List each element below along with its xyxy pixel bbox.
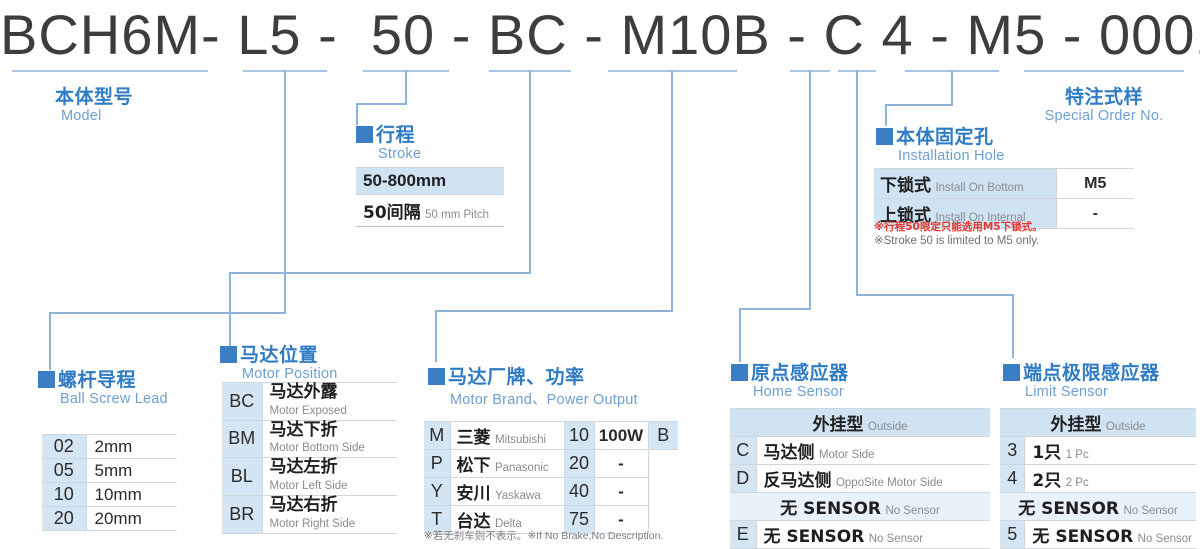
leader-limitsensor-h1 (856, 294, 1014, 296)
motorbrand-cn-1: 松下 (457, 456, 491, 476)
table-row: BL 马达左折 Motor Left Side (222, 458, 397, 496)
home-sensor-nos-desc-0: 无 SENSOR No Sensor (756, 521, 990, 549)
limit-sensor-code-1: 4 (1000, 465, 1025, 493)
table-row: BC 马达外露 Motor Exposed (222, 383, 397, 421)
motorbrand-en-1: Panasonic (495, 462, 549, 474)
leader-homesensor-h1 (739, 308, 811, 310)
motorbrand-power-0: 100W (594, 422, 648, 450)
leader-motorpos-h1 (229, 272, 531, 274)
limit-sensor-nos-cn-0: 无 SENSOR (1032, 527, 1133, 547)
section-homesensor-title-cn: 原点感应器 (751, 358, 849, 385)
table-row: BR 马达右折 Motor Right Side (222, 495, 397, 533)
motorbrand-code-2: Y (424, 478, 450, 506)
motorpos-desc-2: 马达左折 Motor Left Side (262, 458, 397, 496)
lead-code-3: 20 (42, 507, 86, 531)
home-sensor-header-en: Outside (868, 421, 908, 433)
motorbrand-powercode-2: 40 (564, 478, 594, 506)
part-number-code: BCH6M- L5 - 50 - BC - M10B - C 4 - M5 - … (0, 2, 1200, 67)
motorbrand-brake-1 (648, 450, 678, 478)
leader-limitsensor-v1 (856, 70, 858, 296)
section-motorpos-title-cn: 马达位置 (240, 340, 318, 367)
limit-sensor-cn-0: 1只 (1032, 443, 1061, 463)
section-model-title-cn: 本体型号 (55, 82, 133, 109)
motorpos-cn-2: 马达左折 (270, 457, 338, 477)
motorpos-desc-3: 马达右折 Motor Right Side (262, 495, 397, 533)
home-sensor-nos-cn-0: 无 SENSOR (764, 527, 865, 547)
section-homesensor-title-en: Home Sensor (753, 384, 849, 400)
limit-sensor-header-cn: 外挂型 (1050, 415, 1101, 435)
motor-brand-note-en: ※If No Brake,No Description. (527, 530, 663, 542)
motor-position-table: BC 马达外露 Motor Exposed BM 马达下折 Motor Bott… (222, 382, 397, 534)
motorbrand-code-1: P (424, 450, 450, 478)
install-hole-en-0: Install On Bottom (935, 182, 1023, 194)
section-stroke-title-cn: 行程 (376, 120, 415, 147)
motorpos-cn-3: 马达右折 (270, 495, 338, 515)
home-sensor-header-cn: 外挂型 (812, 415, 863, 435)
stroke-table: 50-800mm 50间隔 50 mm Pitch (356, 167, 504, 227)
section-home-sensor: 原点感应器 Home Sensor (731, 358, 849, 400)
limit-sensor-nos-desc-0: 无 SENSOR No Sensor (1025, 521, 1196, 549)
table-row: 20 20mm (42, 507, 177, 531)
lead-value-0: 2mm (86, 435, 177, 459)
table-row: 4 2只 2 Pc (1000, 465, 1196, 493)
limit-sensor-desc-0: 1只 1 Pc (1025, 437, 1196, 465)
underline-special (1024, 70, 1184, 72)
leader-homesensor-v1 (809, 70, 811, 310)
leader-motorpos-v1 (529, 70, 531, 274)
underline-motor-brand (608, 70, 737, 72)
leader-installhole-v1 (951, 70, 953, 105)
table-row: 3 1只 1 Pc (1000, 437, 1196, 465)
home-sensor-cn-0: 马达侧 (764, 443, 815, 463)
leader-lead-v2 (49, 312, 51, 370)
limit-sensor-table: 外挂型 Outside 3 1只 1 Pc 4 2只 2 Pc 无 SENSOR… (1000, 408, 1196, 549)
motorbrand-name-0: 三菱 Mitsubishi (450, 422, 564, 450)
section-motorbrand-title-cn: 马达厂牌、功率 (448, 362, 585, 389)
limit-sensor-nosensor-en: No Sensor (1123, 505, 1177, 517)
leader-limitsensor-v2 (1012, 294, 1014, 358)
table-row: E 无 SENSOR No Sensor (730, 521, 990, 549)
section-install-hole-title-cn: 本体固定孔 (896, 122, 994, 149)
table-row: C 马达侧 Motor Side (730, 437, 990, 465)
install-hole-note-en: ※Stroke 50 is limited to M5 only. (874, 233, 1039, 247)
section-limitsensor-title-en: Limit Sensor (1025, 384, 1160, 400)
motorpos-cn-1: 马达下折 (270, 420, 338, 440)
table-row: BM 马达下折 Motor Bottom Side (222, 420, 397, 458)
leader-homesensor-v2 (739, 308, 741, 362)
motorbrand-en-0: Mitsubishi (495, 434, 546, 446)
home-sensor-table: 外挂型 Outside C 马达侧 Motor Side D 反马达侧 Oppo… (730, 408, 990, 549)
motorbrand-name-2: 安川 Yaskawa (450, 478, 564, 506)
stroke-pitch-en: 50 mm Pitch (425, 209, 489, 221)
section-lead-title-en: Ball Screw Lead (60, 391, 168, 407)
lead-code-1: 05 (42, 459, 86, 483)
limit-sensor-header: 外挂型 Outside (1000, 409, 1196, 437)
motor-brand-table: M 三菱 Mitsubishi 10 100W B P 松下 Panasonic… (424, 421, 678, 534)
lead-value-3: 20mm (86, 507, 177, 531)
home-sensor-en-1: OppoSite Motor Side (836, 477, 943, 489)
motorpos-en-2: Motor Left Side (270, 480, 348, 492)
bullet-square-icon (876, 128, 893, 145)
leader-motorbrand-v2 (435, 310, 437, 362)
limit-sensor-nos-en-0: No Sensor (1138, 533, 1192, 545)
home-sensor-nosensor-en: No Sensor (885, 505, 939, 517)
underline-model (12, 70, 208, 72)
stroke-range-row: 50-800mm (356, 167, 504, 195)
table-row: D 反马达侧 OppoSite Motor Side (730, 465, 990, 493)
section-ball-screw-lead: 螺杆导程 Ball Screw Lead (38, 365, 168, 407)
limit-sensor-cn-1: 2只 (1032, 471, 1061, 491)
section-motorbrand-title-en: Motor Brand、Power Output (450, 388, 638, 409)
section-install-hole-title-en: Installation Hole (898, 148, 1005, 164)
motorbrand-power-2: - (594, 478, 648, 506)
leader-installhole-h1 (885, 104, 953, 106)
limit-sensor-en-0: 1 Pc (1066, 449, 1089, 461)
stroke-pitch-cn: 50间隔 (363, 203, 421, 223)
leader-stroke-h1 (356, 103, 407, 105)
table-row: P 松下 Panasonic 20 - (424, 450, 678, 478)
install-hole-label-0: 下锁式 Install On Bottom (874, 169, 1056, 199)
section-special-order-title-cn: 特注式样 (1065, 82, 1143, 109)
install-hole-value-0: M5 (1056, 169, 1134, 199)
motorpos-code-0: BC (222, 383, 262, 421)
section-special-order: 特注式样 Special Order No. (1024, 82, 1184, 124)
lead-code-2: 10 (42, 483, 86, 507)
home-sensor-nos-code-0: E (730, 521, 756, 549)
table-row: 下锁式 Install On Bottom M5 (874, 169, 1134, 199)
motorpos-en-0: Motor Exposed (270, 405, 347, 417)
section-stroke-title-en: Stroke (378, 146, 421, 162)
motorpos-desc-1: 马达下折 Motor Bottom Side (262, 420, 397, 458)
stroke-pitch-row: 50间隔 50 mm Pitch (356, 195, 504, 227)
limit-sensor-nos-code-0: 5 (1000, 521, 1025, 549)
leader-motorbrand-v1 (671, 70, 673, 312)
table-row: 外挂型 Outside (730, 409, 990, 437)
section-model-title-en: Model (61, 108, 133, 124)
lead-value-1: 5mm (86, 459, 177, 483)
motor-brand-note-cn: ※若无刹车则不表示。 (424, 530, 527, 542)
part-number-configurator-diagram: BCH6M- L5 - 50 - BC - M10B - C 4 - M5 - … (0, 0, 1200, 549)
bullet-square-icon (38, 371, 55, 388)
leader-lead-h1 (49, 312, 286, 314)
table-row: 05 5mm (42, 459, 177, 483)
motorbrand-cn-0: 三菱 (457, 428, 491, 448)
section-motor-position: 马达位置 Motor Position (220, 340, 337, 382)
section-special-order-title-en: Special Order No. (1024, 108, 1184, 124)
motorbrand-name-1: 松下 Panasonic (450, 450, 564, 478)
motorpos-code-1: BM (222, 420, 262, 458)
bullet-square-icon (428, 368, 445, 385)
install-hole-cn-0: 下锁式 (880, 176, 931, 196)
home-sensor-nos-en-0: No Sensor (869, 533, 923, 545)
table-row: 外挂型 Outside (1000, 409, 1196, 437)
home-sensor-en-0: Motor Side (819, 449, 875, 461)
section-stroke: 行程 Stroke (356, 120, 421, 162)
section-limit-sensor: 端点极限感应器 Limit Sensor (1003, 358, 1160, 400)
install-hole-value-1: - (1056, 199, 1134, 229)
section-motorpos-title-en: Motor Position (242, 366, 337, 382)
home-sensor-desc-1: 反马达侧 OppoSite Motor Side (756, 465, 990, 493)
motorpos-en-1: Motor Bottom Side (270, 442, 365, 454)
section-motor-brand: 马达厂牌、功率 Motor Brand、Power Output (428, 362, 638, 409)
home-sensor-code-1: D (730, 465, 756, 493)
motorpos-en-3: Motor Right Side (270, 518, 356, 530)
table-row: 02 2mm (42, 435, 177, 459)
motorpos-desc-0: 马达外露 Motor Exposed (262, 383, 397, 421)
motorbrand-power-1: - (594, 450, 648, 478)
section-limitsensor-title-cn: 端点极限感应器 (1023, 358, 1160, 385)
section-install-hole: 本体固定孔 Installation Hole (876, 122, 1005, 164)
install-hole-note-cn: ※行程50限定只能选用M5下锁式。 (874, 219, 1043, 234)
home-sensor-nosensor-cn: 无 SENSOR (780, 499, 881, 519)
leader-motorbrand-h1 (435, 310, 673, 312)
section-model: 本体型号 Model (55, 82, 133, 124)
motorbrand-en-2: Yaskawa (495, 490, 541, 502)
limit-sensor-nosensor-cn: 无 SENSOR (1018, 499, 1119, 519)
table-row: 10 10mm (42, 483, 177, 507)
motorbrand-powercode-1: 20 (564, 450, 594, 478)
lead-value-2: 10mm (86, 483, 177, 507)
leader-stroke-v1 (405, 70, 407, 104)
table-row: 无 SENSOR No Sensor (1000, 493, 1196, 521)
bullet-square-icon (220, 346, 237, 363)
table-row: 5 无 SENSOR No Sensor (1000, 521, 1196, 549)
table-row: 无 SENSOR No Sensor (730, 493, 990, 521)
motorpos-code-3: BR (222, 495, 262, 533)
motorbrand-code-0: M (424, 422, 450, 450)
motorbrand-brake-2 (648, 478, 678, 506)
install-hole-note-cn-text: ※行程50限定只能选用M5下锁式。 (874, 221, 1043, 233)
bullet-square-icon (731, 364, 748, 381)
motor-brand-note: ※若无刹车则不表示。※If No Brake,No Description. (424, 528, 663, 543)
bullet-square-icon (1003, 364, 1020, 381)
motorbrand-cn-2: 安川 (457, 484, 491, 504)
motorpos-cn-0: 马达外露 (270, 382, 338, 402)
limit-sensor-header-en: Outside (1106, 421, 1146, 433)
bullet-square-icon (356, 126, 373, 143)
motorpos-code-2: BL (222, 458, 262, 496)
home-sensor-nosensor-header: 无 SENSOR No Sensor (730, 493, 990, 521)
motorbrand-powercode-0: 10 (564, 422, 594, 450)
leader-motorpos-v2 (229, 272, 231, 346)
leader-lead-v1 (284, 70, 286, 313)
lead-code-0: 02 (42, 435, 86, 459)
home-sensor-cn-1: 反马达侧 (764, 471, 832, 491)
home-sensor-desc-0: 马达侧 Motor Side (756, 437, 990, 465)
limit-sensor-desc-1: 2只 2 Pc (1025, 465, 1196, 493)
install-hole-note-en-text: ※Stroke 50 is limited to M5 only. (874, 235, 1039, 247)
ball-screw-lead-table: 02 2mm 05 5mm 10 10mm 20 20mm (42, 434, 177, 531)
home-sensor-code-0: C (730, 437, 756, 465)
table-row: Y 安川 Yaskawa 40 - (424, 478, 678, 506)
limit-sensor-en-1: 2 Pc (1066, 477, 1089, 489)
motorbrand-brake-0: B (648, 422, 678, 450)
home-sensor-header: 外挂型 Outside (730, 409, 990, 437)
limit-sensor-code-0: 3 (1000, 437, 1025, 465)
limit-sensor-nosensor-header: 无 SENSOR No Sensor (1000, 493, 1196, 521)
section-lead-title-cn: 螺杆导程 (58, 365, 136, 392)
table-row: M 三菱 Mitsubishi 10 100W B (424, 422, 678, 450)
